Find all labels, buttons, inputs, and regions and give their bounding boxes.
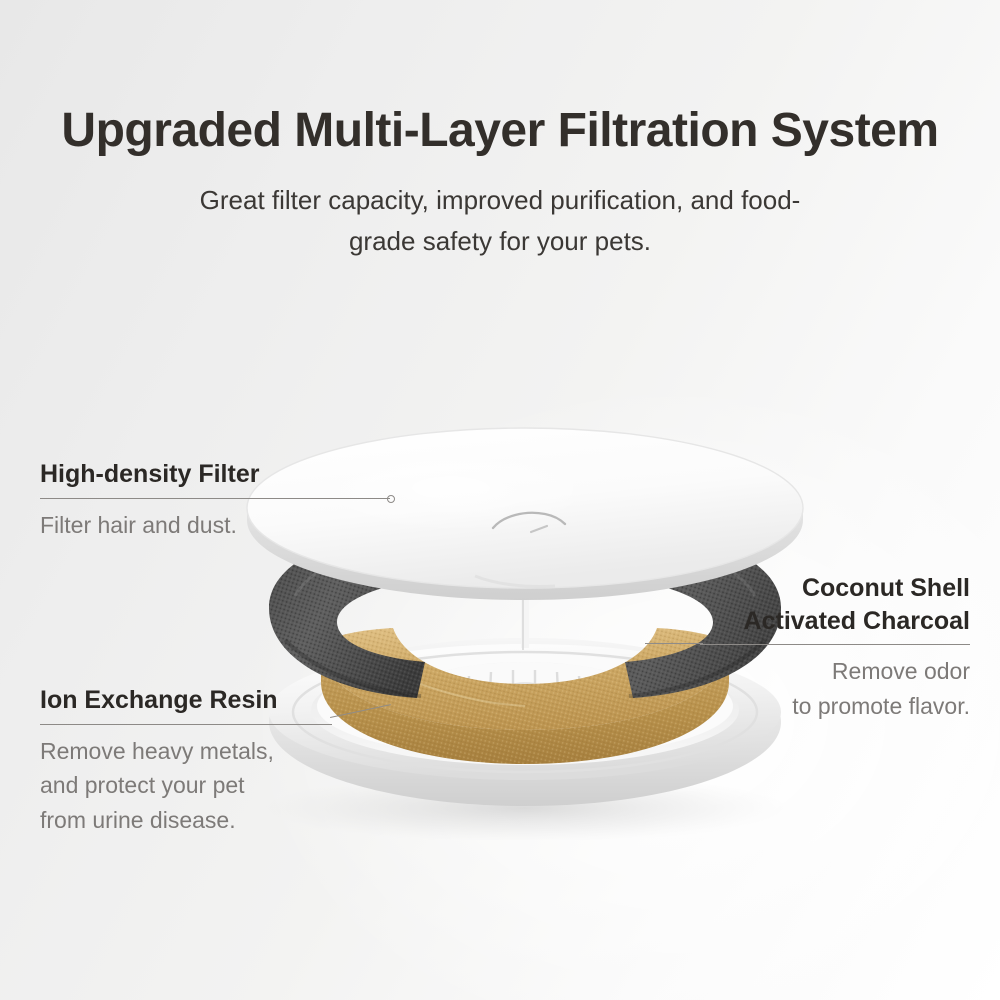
callout-title-ion-exchange-resin: Ion Exchange Resin bbox=[40, 684, 340, 717]
callout-body-line-2: and protect your pet bbox=[40, 772, 245, 798]
callout-title-line-1: Coconut Shell bbox=[802, 574, 970, 602]
callout-body-line-2: to promote flavor. bbox=[792, 693, 970, 719]
callout-title-high-density-filter: High-density Filter bbox=[40, 458, 395, 491]
callout-body-line-1: Filter hair and dust. bbox=[40, 512, 237, 538]
callout-ion-exchange-resin: Ion Exchange Resin Remove heavy metals, … bbox=[40, 684, 340, 838]
callout-high-density-filter: High-density Filter Filter hair and dust… bbox=[40, 458, 395, 542]
callout-body-line-1: Remove odor bbox=[832, 658, 970, 684]
callout-rule-high-density-filter bbox=[40, 498, 390, 499]
page-subtitle: Great filter capacity, improved purifica… bbox=[150, 158, 850, 262]
callout-body-coconut-shell-activated-charcoal: Remove odor to promote flavor. bbox=[700, 654, 970, 724]
callout-body-line-3: from urine disease. bbox=[40, 807, 236, 833]
page-title: Upgraded Multi-Layer Filtration System bbox=[0, 0, 1000, 158]
infographic-page: Upgraded Multi-Layer Filtration System G… bbox=[0, 0, 1000, 1000]
leader-line-coconut-shell-activated-charcoal bbox=[645, 643, 703, 644]
callout-rule-coconut-shell-activated-charcoal bbox=[700, 644, 970, 645]
callout-title-coconut-shell-activated-charcoal: Coconut Shell Activated Charcoal bbox=[700, 572, 970, 637]
header: Upgraded Multi-Layer Filtration System G… bbox=[0, 0, 1000, 262]
callout-title-line-2: Activated Charcoal bbox=[744, 607, 970, 635]
callout-body-ion-exchange-resin: Remove heavy metals, and protect your pe… bbox=[40, 734, 340, 839]
callout-rule-ion-exchange-resin bbox=[40, 724, 332, 725]
callout-body-line-1: Remove heavy metals, bbox=[40, 738, 274, 764]
subtitle-line-2: grade safety for your pets. bbox=[349, 226, 651, 256]
callout-body-high-density-filter: Filter hair and dust. bbox=[40, 508, 395, 543]
callout-coconut-shell-activated-charcoal: Coconut Shell Activated Charcoal Remove … bbox=[700, 572, 970, 724]
subtitle-line-1: Great filter capacity, improved purifica… bbox=[200, 185, 801, 215]
